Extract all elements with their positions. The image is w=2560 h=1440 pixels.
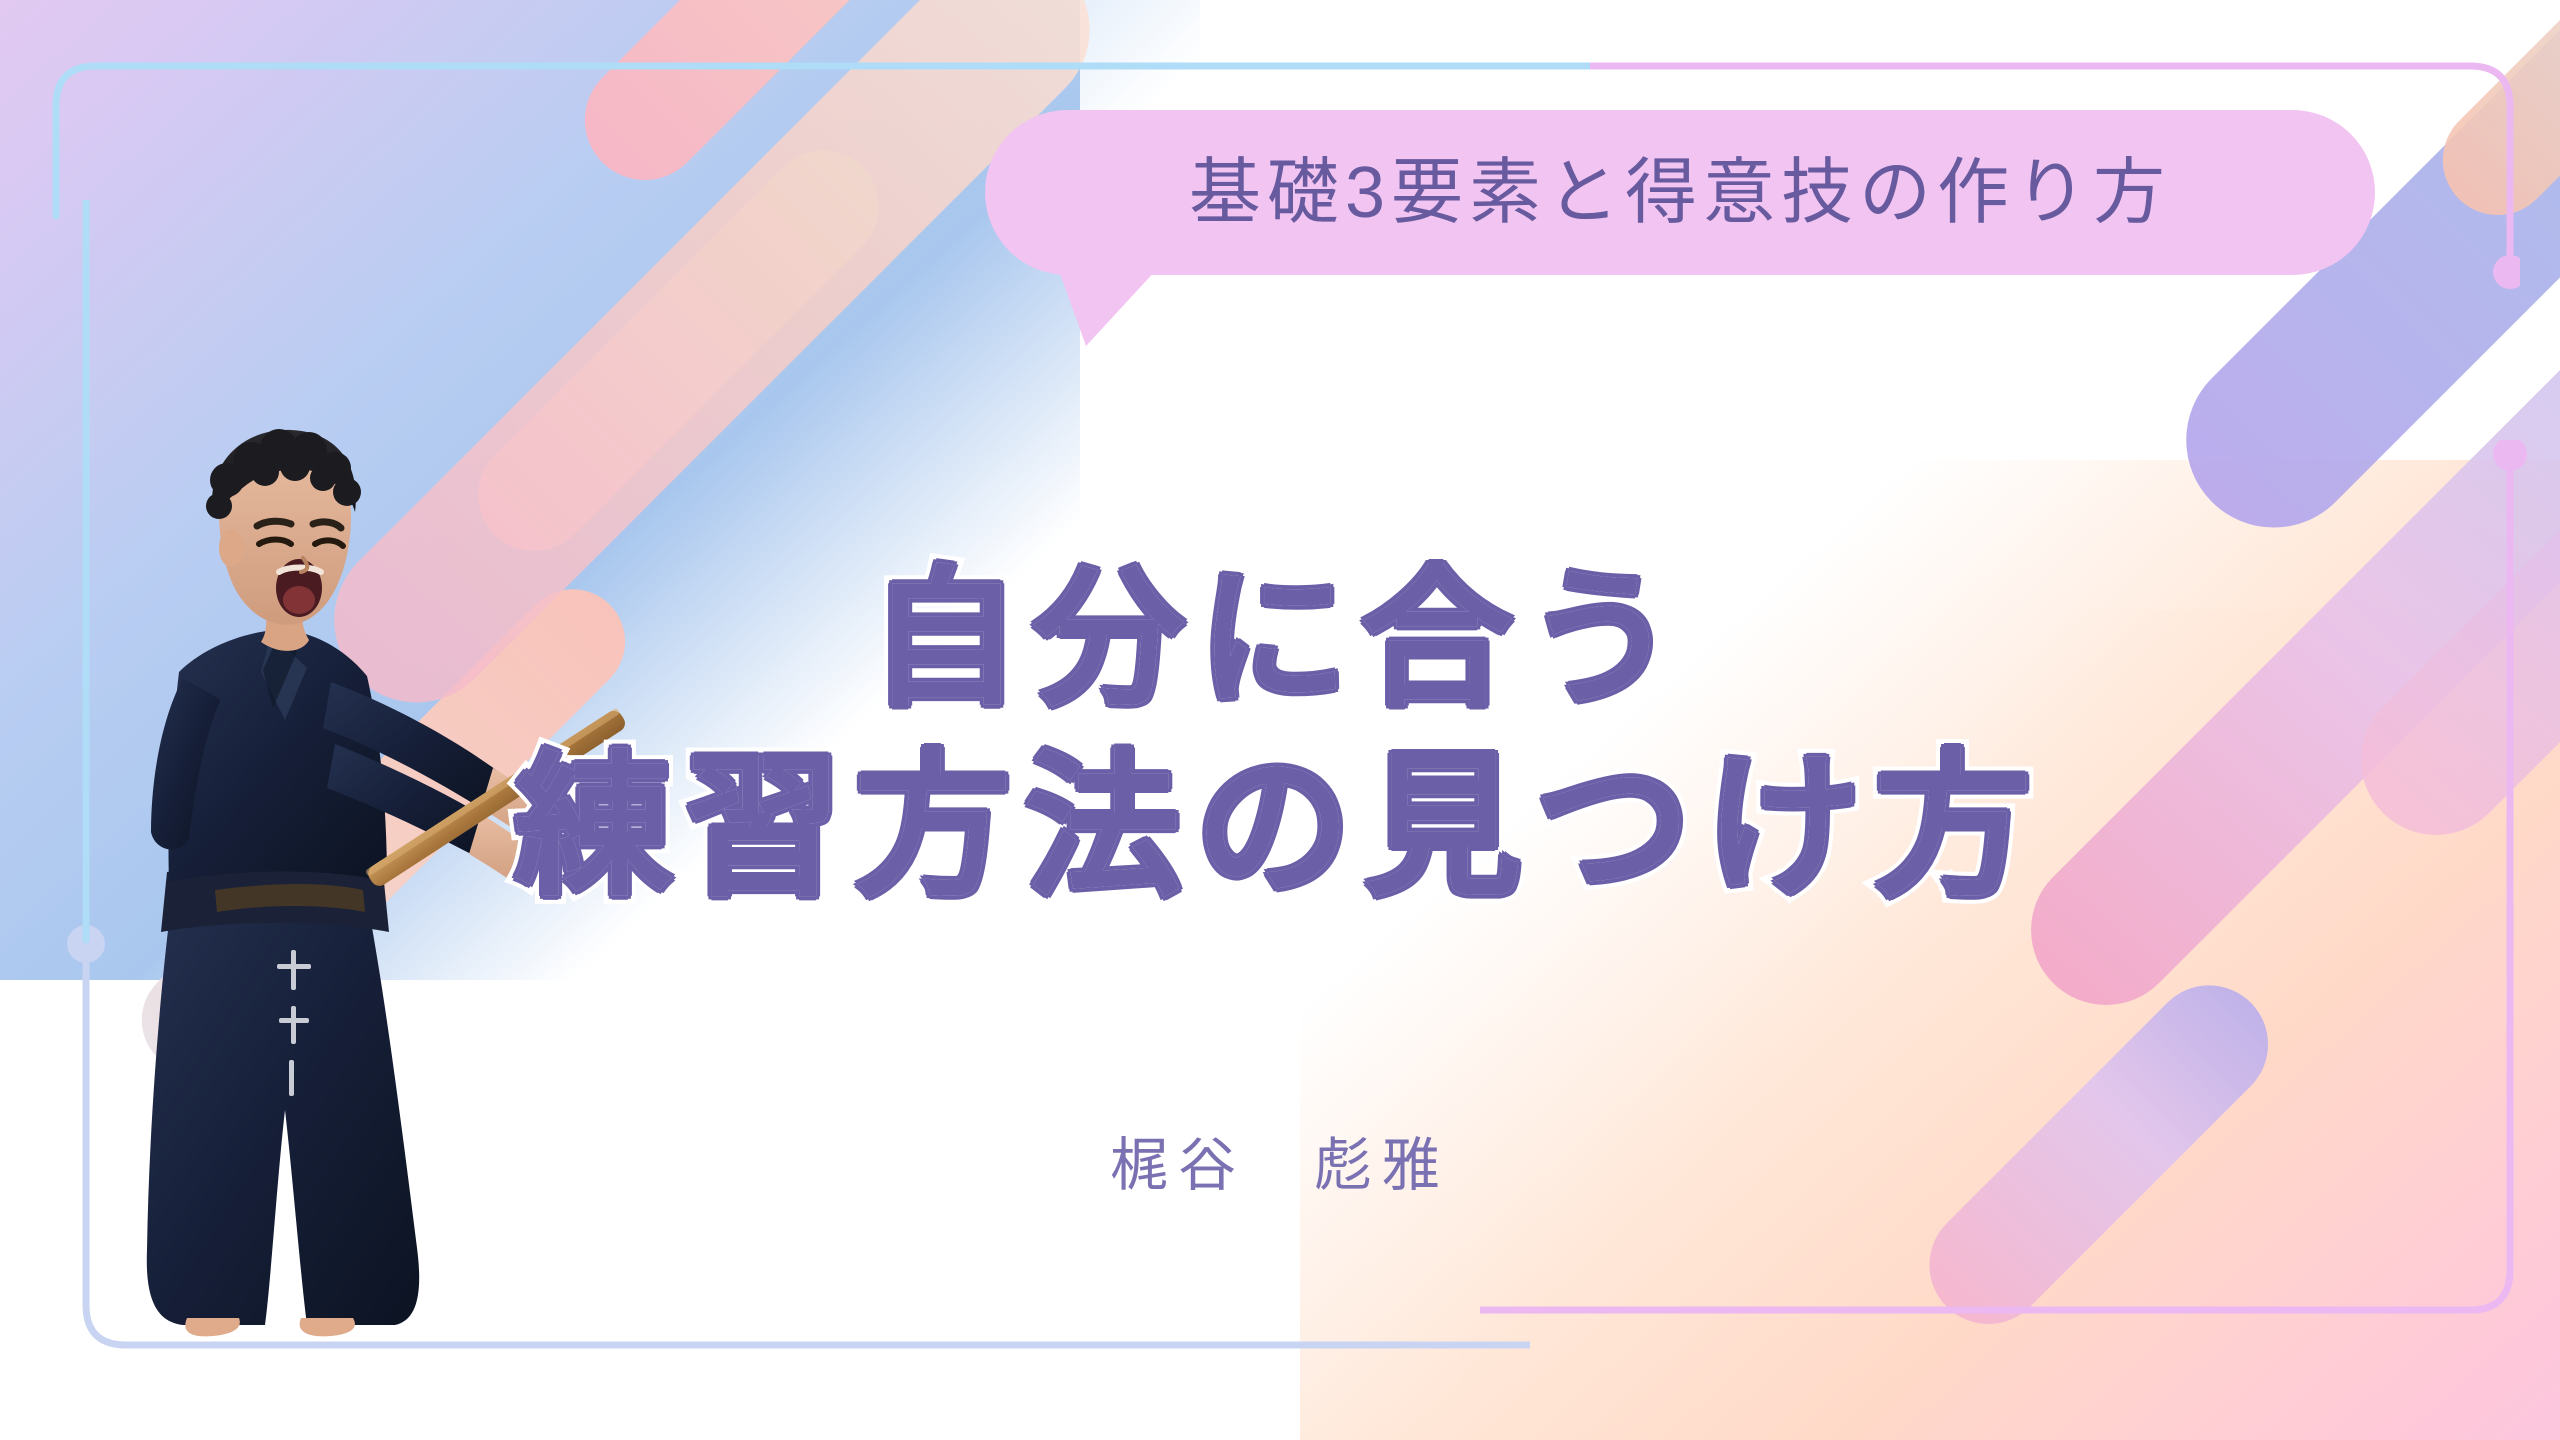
title-line-1: 自分に合う <box>0 548 2560 731</box>
frame-segment-left-top <box>50 200 130 980</box>
background-wash-top-left <box>0 0 1080 980</box>
frame-segment-right-bottom <box>1480 440 2530 1360</box>
decor-bar-br-rose <box>2000 294 2560 1036</box>
background-wash-bottom-right <box>1300 460 2560 1440</box>
background-wash-bottom-right-outer <box>1460 610 2560 1440</box>
page-title: 自分に合う 練習方法の見つけ方 <box>0 548 2560 923</box>
decor-bar-br-violet <box>2150 0 2560 564</box>
slide-canvas: 基礎3要素と得意技の作り方 自分に合う 練習方法の見つけ方 梶谷 彪雅 <box>0 0 2560 1440</box>
kendo-practitioner-photo <box>95 420 675 1340</box>
decor-bar-br-lilac <box>2330 223 2560 866</box>
title-line-2: 練習方法の見つけ方 <box>0 733 2560 923</box>
decor-bar-br-peach <box>2420 0 2560 238</box>
author-name: 梶谷 彪雅 <box>0 1118 2560 1202</box>
decor-bar-left-peach <box>120 567 647 1094</box>
speech-bubble: 基礎3要素と得意技の作り方 <box>985 110 2375 275</box>
background-wash-top-left-outer <box>0 0 1200 740</box>
speech-bubble-text: 基礎3要素と得意技の作り方 <box>1189 157 2171 229</box>
speech-bubble-tail <box>1058 268 1158 346</box>
decor-bar-tl-pinkwide <box>300 0 1124 737</box>
decor-bar-tl-mint <box>455 127 902 574</box>
